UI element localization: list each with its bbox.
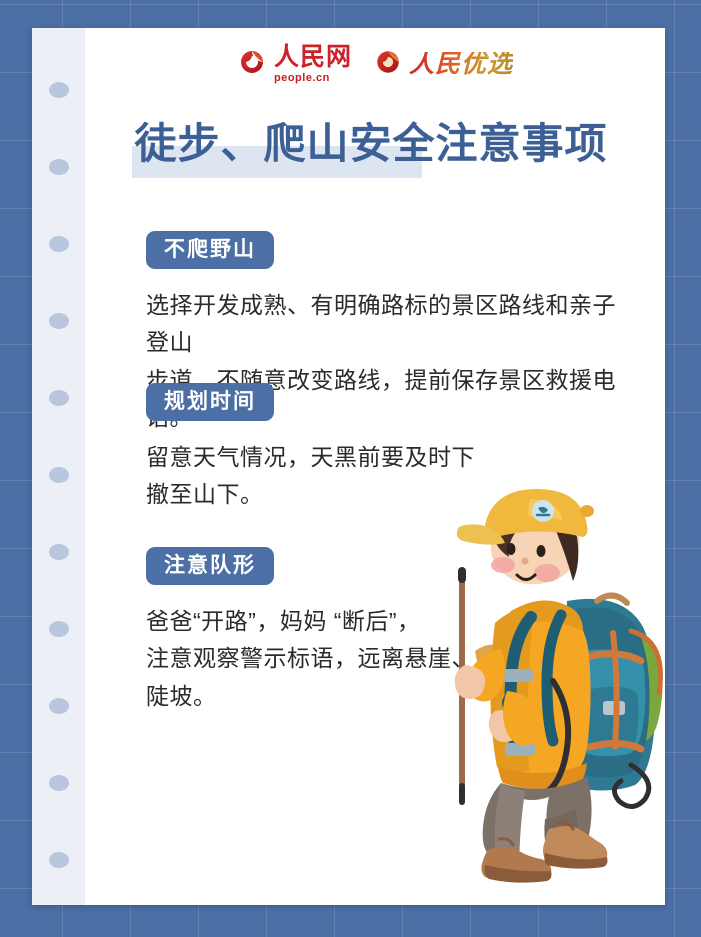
renmin-youxuan-logo[interactable]: 人民优选 bbox=[374, 48, 513, 81]
paper-sheet: 人民网 people.cn bbox=[32, 28, 665, 905]
people-swirl-icon bbox=[237, 47, 267, 82]
binder-hole bbox=[49, 544, 69, 560]
section-badge: 规划时间 bbox=[146, 383, 274, 421]
binder-hole bbox=[49, 467, 69, 483]
binder-hole bbox=[49, 775, 69, 791]
logo-row: 人民网 people.cn bbox=[85, 40, 665, 88]
binder-hole bbox=[49, 159, 69, 175]
page-title-wrap: 徒步、爬山安全注意事项 bbox=[85, 120, 657, 168]
paper-content: 人民网 people.cn bbox=[85, 28, 665, 905]
binder-hole bbox=[49, 698, 69, 714]
binder-hole bbox=[49, 313, 69, 329]
binder-hole bbox=[49, 390, 69, 406]
youxuan-label: 人民优选 bbox=[409, 52, 513, 77]
section-badge: 不爬野山 bbox=[146, 231, 274, 269]
page-title: 徒步、爬山安全注意事项 bbox=[134, 120, 607, 168]
youxuan-swirl-icon bbox=[374, 48, 402, 81]
hiker-boy-illustration bbox=[435, 483, 665, 883]
people-cn-logo[interactable]: 人民网 people.cn bbox=[237, 45, 352, 84]
people-cn-sublabel: people.cn bbox=[274, 72, 352, 84]
people-cn-label: 人民网 bbox=[274, 44, 352, 71]
binder-hole bbox=[49, 236, 69, 252]
binder-hole bbox=[49, 82, 69, 98]
section-badge: 注意队形 bbox=[146, 547, 274, 585]
head bbox=[457, 489, 594, 584]
binder-strip bbox=[32, 28, 85, 905]
binder-hole bbox=[49, 621, 69, 637]
binder-hole bbox=[49, 852, 69, 868]
